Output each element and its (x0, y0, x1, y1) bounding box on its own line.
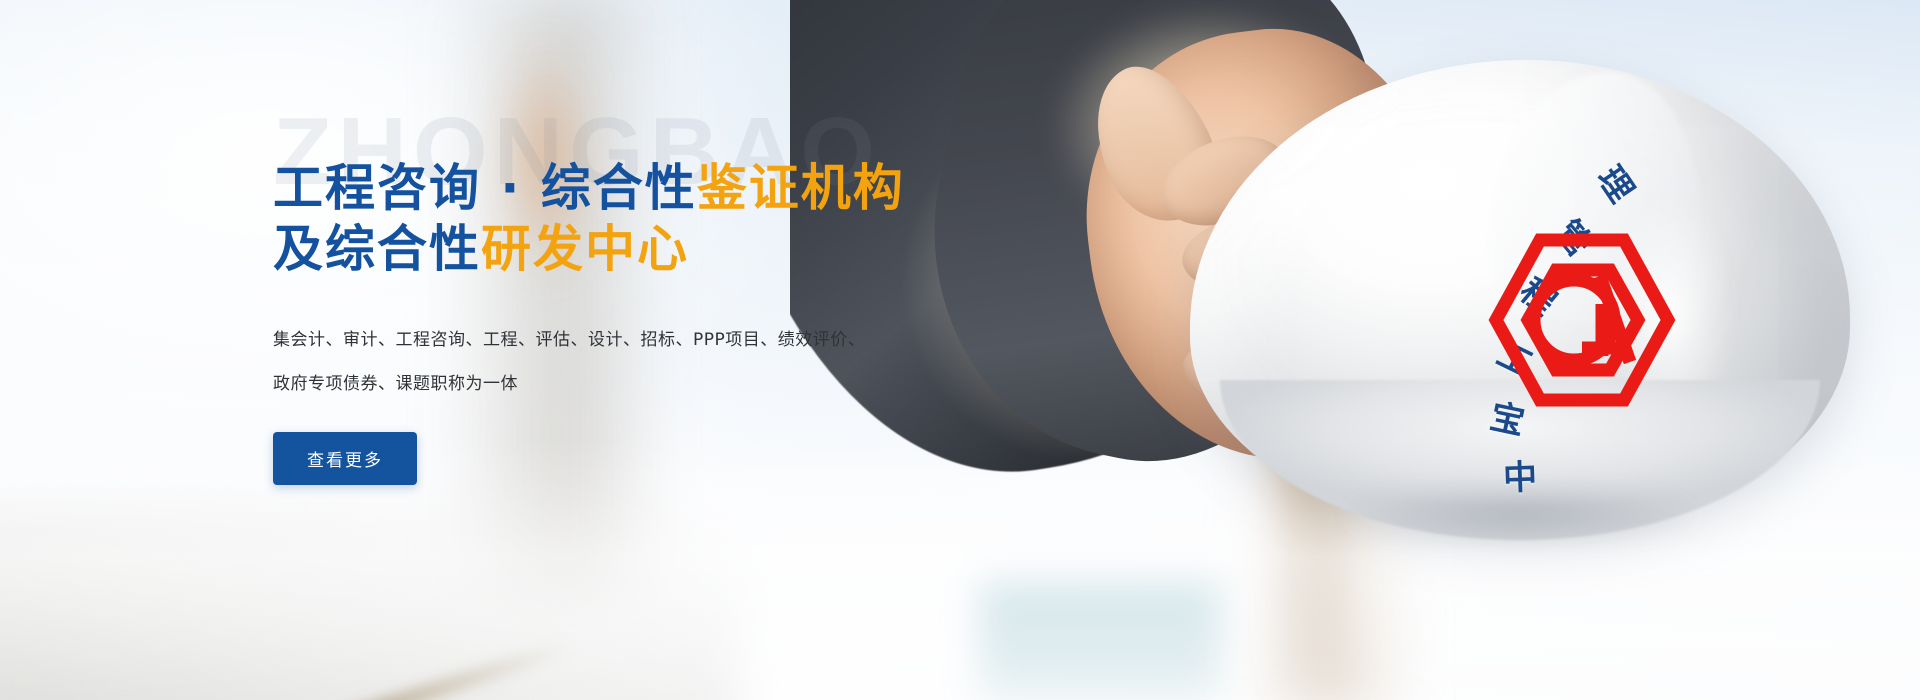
helmet-char-0: 理 (1588, 155, 1648, 211)
hero-banner: 理 管 程 工 宝 中 ZHONGBAO 工程咨询 · 综合性鉴证机构 (0, 0, 1920, 700)
helmet-char-5: 中 (1502, 449, 1538, 499)
headline-line-1: 工程咨询 · 综合性鉴证机构 (273, 158, 1093, 219)
description: 集会计、审计、工程咨询、工程、评估、设计、招标、PPP项目、绩效评价、 政府专项… (273, 318, 1093, 406)
headline-line1-blue: 工程咨询 · 综合性 (273, 159, 697, 217)
zhongbao-hexagon-logo (1482, 230, 1682, 410)
headline-line-2: 及综合性研发中心 (273, 219, 1093, 280)
description-line-1: 集会计、审计、工程咨询、工程、评估、设计、招标、PPP项目、绩效评价、 (273, 318, 1093, 362)
headline-line1-gold: 鉴证机构 (697, 159, 905, 217)
view-more-button[interactable]: 查看更多 (273, 432, 417, 485)
description-line-2: 政府专项债券、课题职称为一体 (273, 362, 1093, 406)
headline-line2-gold: 研发中心 (481, 220, 689, 278)
hero-copy: ZHONGBAO 工程咨询 · 综合性鉴证机构 及综合性研发中心 集会计、审计、… (273, 104, 1093, 485)
headline: 工程咨询 · 综合性鉴证机构 及综合性研发中心 (273, 158, 1093, 280)
headline-line2-blue: 及综合性 (273, 220, 481, 278)
